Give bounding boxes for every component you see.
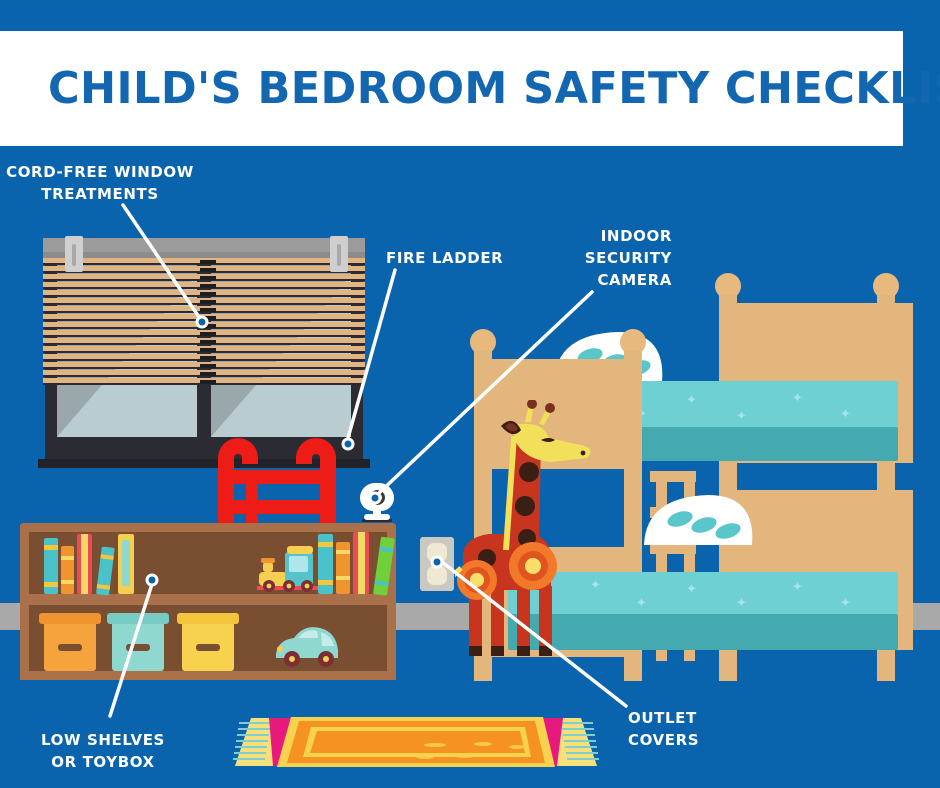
callout-line-1: LOW SHELVES — [20, 730, 186, 752]
bin-lid-orange — [39, 613, 101, 624]
ladder-inner-left — [246, 470, 258, 528]
book-5 — [118, 534, 134, 594]
bin-handle-yellow — [196, 644, 220, 651]
book-group-left — [44, 530, 154, 594]
callout-outlet-covers: OUTLET COVERS — [628, 708, 778, 752]
callout-line-3: CAMERA — [548, 270, 672, 292]
blind-cord-segment — [200, 276, 216, 280]
blind-bracket-right — [330, 236, 348, 272]
blind-headrail-shadow — [43, 252, 365, 258]
bin-handle-teal — [126, 644, 150, 651]
ladder-hook-right — [296, 438, 336, 464]
blind-cord-segment — [200, 308, 216, 312]
callout-line-1: CORD-FREE WINDOW — [6, 162, 194, 184]
blind-cord-segment — [200, 268, 216, 272]
book-4 — [96, 546, 115, 595]
indoor-security-camera-icon — [360, 483, 394, 521]
callout-line-2: SECURITY — [548, 248, 672, 270]
storage-bin-yellow — [182, 622, 234, 671]
callout-fire-ladder: FIRE LADDER — [386, 248, 546, 270]
blind-cord-segment — [200, 364, 216, 368]
floor-rug — [225, 708, 605, 774]
callout-line-1: OUTLET — [628, 708, 778, 730]
rug-illustration — [225, 708, 605, 774]
toy-train-illustration — [255, 538, 325, 594]
ladder-hook-left — [218, 438, 258, 464]
storage-bin-orange — [44, 622, 96, 671]
callout-indoor-security-camera: INDOOR SECURITY CAMERA — [548, 226, 672, 291]
infographic-canvas: CHILD'S BEDROOM SAFETY CHECKLIST — [0, 0, 940, 788]
book-3 — [77, 534, 92, 594]
blind-cord-segment — [200, 356, 216, 360]
bin-handle-orange — [58, 644, 82, 651]
bed-foot-rear-left — [719, 667, 737, 681]
book-8 — [353, 532, 369, 594]
bin-lid-teal — [107, 613, 169, 624]
giraffe-illustration — [455, 400, 605, 670]
callout-cord-free-window-treatments: CORD-FREE WINDOW TREATMENTS — [6, 162, 194, 206]
outlet-socket-top — [427, 543, 447, 562]
blind-cord-segment — [200, 332, 216, 336]
bin-lid-yellow — [177, 613, 239, 624]
toy-train — [255, 538, 325, 594]
title-banner: CHILD'S BEDROOM SAFETY CHECKLIST — [0, 31, 903, 146]
storage-bin-teal — [112, 622, 164, 671]
shelf-middle-board — [29, 594, 387, 605]
shelf-bottom-board — [20, 671, 396, 680]
pillow-lower — [638, 493, 758, 549]
page-title: CHILD'S BEDROOM SAFETY CHECKLIST — [48, 63, 940, 114]
callout-line-1: INDOOR — [548, 226, 672, 248]
book-7 — [336, 542, 350, 594]
blind-cord-segment — [200, 284, 216, 288]
callout-line-2: TREATMENTS — [6, 184, 194, 206]
blind-cord-segment — [200, 316, 216, 320]
book-2 — [61, 546, 74, 594]
ladder-rail-right — [320, 462, 336, 528]
blind-cord-ladder — [200, 258, 216, 386]
giraffe-pull-toy — [455, 400, 595, 660]
blind-cord-segment — [200, 260, 216, 264]
callout-low-shelves-or-toybox: LOW SHELVES OR TOYBOX — [20, 730, 186, 774]
callout-line-2: OR TOYBOX — [20, 752, 186, 774]
blind-cord-segment — [200, 324, 216, 328]
bed-foot-rear-right — [877, 667, 895, 681]
blind-cord-segment — [200, 292, 216, 296]
toy-car-illustration — [272, 620, 344, 670]
book-1 — [44, 538, 58, 594]
book-6 — [318, 534, 333, 594]
fire-escape-ladder — [218, 438, 336, 528]
callout-line-2: COVERS — [628, 730, 778, 752]
blind-cord-segment — [200, 380, 216, 384]
blind-cord-segment — [200, 340, 216, 344]
blind-cord-segment — [200, 300, 216, 304]
blind-cord-segment — [200, 348, 216, 352]
blind-cord-segment — [200, 372, 216, 376]
toy-car — [272, 620, 344, 670]
book-group-right — [318, 530, 390, 594]
callout-line-1: FIRE LADDER — [386, 248, 546, 270]
outlet-cover-plate — [420, 537, 454, 591]
camera-lens — [370, 490, 385, 505]
outlet-socket-bottom — [427, 566, 447, 585]
blind-bracket-left — [65, 236, 83, 272]
